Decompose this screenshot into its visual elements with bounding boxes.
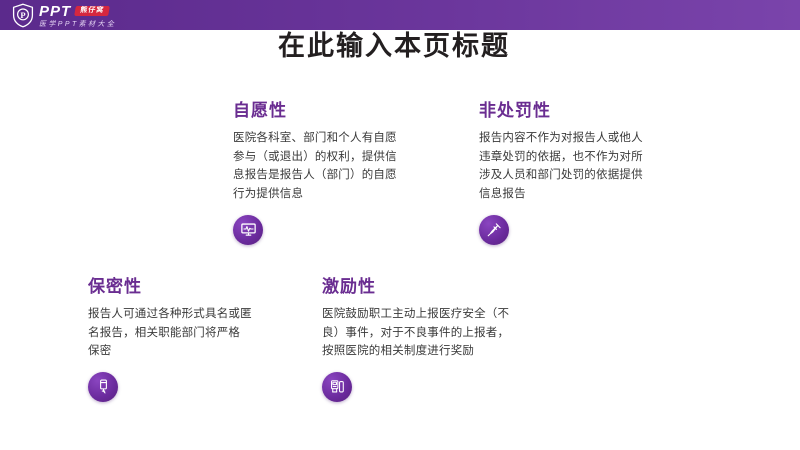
shield-icon: P [12, 3, 34, 28]
block-title: 保密性 [88, 272, 304, 297]
logo-brand-text: PPT [39, 4, 71, 19]
logo-subtitle: 医学PPT素材大全 [39, 21, 116, 28]
brand-logo[interactable]: P PPT 熊仔窝 医学PPT素材大全 [12, 3, 116, 28]
content-block-voluntary: 自愿性 医院各科室、部门和个人有自愿 参与（或退出）的权利，提供信 息报告是报告… [233, 96, 451, 245]
header-bar [0, 0, 800, 30]
slide-canvas: P PPT 熊仔窝 医学PPT素材大全 在此输入本页标题 自愿性 医院各科室、部… [0, 0, 800, 450]
block-body: 报告内容不作为对报告人或他人 违章处罚的依据，也不作为对所 涉及人员和部门处罚的… [479, 129, 691, 204]
block-body: 医院各科室、部门和个人有自愿 参与（或退出）的权利，提供信 息报告是报告人（部门… [233, 129, 451, 204]
block-body: 报告人可通过各种形式具名或匿 名报告，相关职能部门将严格 保密 [88, 305, 304, 361]
block-title: 非处罚性 [479, 96, 691, 121]
watermark: www.ppter.com [698, 432, 790, 442]
block-body: 医院鼓励职工主动上报医疗安全（不 良）事件，对于不良事件的上报者， 按照医院的相… [322, 305, 564, 361]
block-title: 自愿性 [233, 96, 451, 121]
ecg-monitor-icon[interactable] [233, 215, 263, 245]
svg-text:P: P [20, 10, 25, 20]
content-block-confidentiality: 保密性 报告人可通过各种形式具名或匿 名报告，相关职能部门将严格 保密 [88, 272, 304, 402]
syringe-icon[interactable] [479, 215, 509, 245]
block-title: 激励性 [322, 272, 564, 297]
content-block-incentive: 激励性 医院鼓励职工主动上报医疗安全（不 良）事件，对于不良事件的上报者， 按照… [322, 272, 564, 402]
logo-badge: 熊仔窝 [74, 6, 110, 16]
blood-pressure-monitor-icon[interactable] [322, 372, 352, 402]
iv-drip-icon[interactable] [88, 372, 118, 402]
content-block-non-punitive: 非处罚性 报告内容不作为对报告人或他人 违章处罚的依据，也不作为对所 涉及人员和… [479, 96, 691, 245]
